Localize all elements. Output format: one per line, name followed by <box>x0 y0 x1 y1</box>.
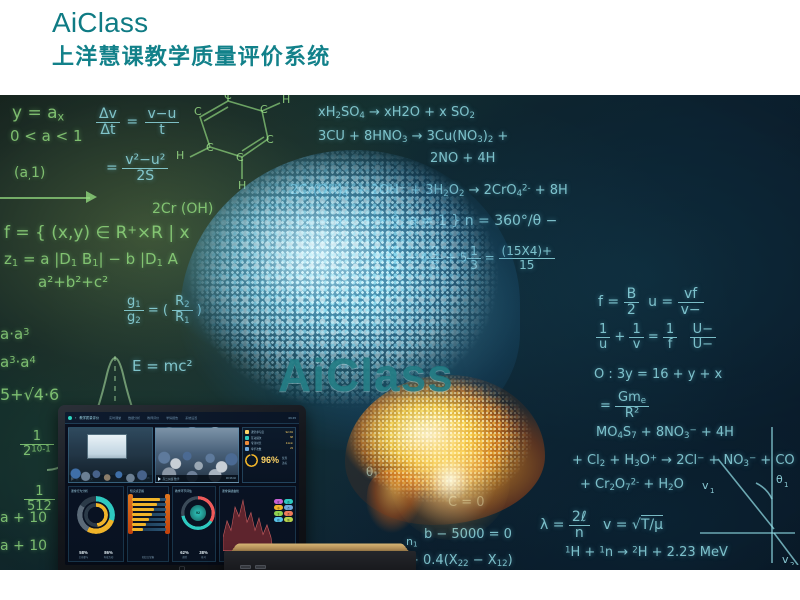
stat-caption: 知识点掌握 <box>142 555 154 559</box>
tag-chip[interactable]: 专 <box>274 511 283 516</box>
bar-row <box>132 528 166 531</box>
side-panel-row: 专注时长 41min <box>245 441 293 445</box>
tag-chip[interactable]: 中 <box>274 505 283 510</box>
stat-item: 38% 练习 <box>199 550 207 559</box>
indicator-light <box>240 565 251 569</box>
arrow-head <box>86 191 97 203</box>
video-tile-bar: 高一(3)班 语文 00:24:18 <box>69 475 152 482</box>
widget-stats: 62% 讲授 38% 练习 <box>175 550 213 559</box>
side-panel-row: 举手次数 23 <box>245 447 293 451</box>
video-tile[interactable]: 高一(3)班 语文 00:24:18 <box>68 427 153 483</box>
tag-chip[interactable]: 新 <box>284 517 293 522</box>
metric-icon <box>245 436 249 440</box>
side-panel-value: 68 <box>290 436 293 439</box>
svg-text:C: C <box>260 103 268 116</box>
svg-text:2: 2 <box>790 561 794 565</box>
score-ring <box>245 454 258 467</box>
tag-chip[interactable]: 活 <box>284 511 293 516</box>
side-panel-row: 课堂参与度 92.4% <box>245 430 293 434</box>
bar-row <box>132 513 166 516</box>
side-panel-value: 92.4% <box>286 431 293 434</box>
tag-chip[interactable]: 优 <box>274 499 283 504</box>
svg-text:H: H <box>282 95 290 106</box>
widget-stats: 58% 主动参与 86% 有效互动 <box>71 550 121 559</box>
stat-item: 86% 有效互动 <box>104 550 114 559</box>
score-sub-0: 优秀 <box>282 456 287 460</box>
widget-title: 课堂行为分析 <box>71 489 121 493</box>
brand-title: AiClass <box>52 9 148 37</box>
side-panel-value: 41min <box>286 442 293 445</box>
stat-label: 有效互动 <box>104 555 114 559</box>
tag-chip[interactable]: 良 <box>284 499 293 504</box>
set-top-box-body: AiClass <box>224 551 416 570</box>
video-timer: 00:24:18 <box>139 477 149 480</box>
tag-chip[interactable]: 合 <box>284 505 293 510</box>
dashboard-nav: 实时课堂 数据分析 教师评价 学情报告 系统设置 <box>109 416 197 420</box>
bar-row <box>132 518 166 521</box>
nav-item-3[interactable]: 学情报告 <box>166 416 178 420</box>
set-top-box-label: AiClass <box>294 568 346 571</box>
hero-image: y = ax 0 < a < 1 (a,1) f = { (x,y) ∈ R+×… <box>0 95 800 570</box>
page-header: AiClass 上洋慧课教学质量评价系统 <box>0 0 800 95</box>
nav-item-2[interactable]: 教师评价 <box>147 416 159 420</box>
metric-icon <box>245 441 249 445</box>
svg-text:θ: θ <box>776 473 783 486</box>
apple-logo-icon:  <box>178 566 186 570</box>
brand-subtitle: 上洋慧课教学质量评价系统 <box>52 46 330 68</box>
bar-chart <box>132 496 166 532</box>
nav-item-4[interactable]: 系统设置 <box>185 416 197 420</box>
dashboard-clock: 09:45 <box>288 416 296 420</box>
nav-item-1[interactable]: 数据分析 <box>128 416 140 420</box>
bar-row <box>132 498 166 501</box>
svg-text:v: v <box>782 553 789 565</box>
svg-text:1: 1 <box>710 487 714 495</box>
brain-overlay-label: AiClass <box>278 348 454 402</box>
stat-item: 62% 讲授 <box>180 550 188 559</box>
svg-text:H: H <box>222 95 230 96</box>
stat-item: 58% 主动参与 <box>79 550 89 559</box>
video-tile-bar: 高二(1)班 数学 00:36:02 <box>156 475 239 482</box>
side-panel-row: 互动频次 68 <box>245 436 293 440</box>
metric-icon <box>245 447 249 451</box>
stat-label: 讲授 <box>180 555 188 559</box>
metric-icon <box>245 430 249 434</box>
donut-chart-inner <box>84 503 108 527</box>
side-panel-label: 专注时长 <box>251 441 261 445</box>
play-icon[interactable] <box>158 477 161 481</box>
widget-title: 知识点掌握 <box>130 489 166 493</box>
widget-behavior-donut[interactable]: 课堂行为分析 58% 主动参与 86% 有效互动 <box>68 486 124 562</box>
stat-label: 主动参与 <box>79 555 89 559</box>
tag-list: 优 良 中 合 专 活 稳 新 <box>274 499 293 522</box>
score-value: 96% <box>261 456 279 465</box>
back-icon[interactable]: ‹ <box>75 415 76 420</box>
video-label: 高一(3)班 语文 <box>76 477 93 481</box>
widget-title: 教学环节评估 <box>175 489 213 493</box>
video-label: 高二(1)班 数学 <box>163 477 180 481</box>
widget-stats: 知识点掌握 <box>130 555 166 559</box>
svg-text:1: 1 <box>784 481 788 489</box>
side-panel-value: 23 <box>290 447 293 450</box>
stat-item: 知识点掌握 <box>142 555 154 559</box>
stat-label: 练习 <box>199 555 207 559</box>
vector-angle-diagram: θ1 v1 v2 <box>690 425 800 565</box>
dashboard-toolbar: ‹ 教学质量评价 实时课堂 数据分析 教师评价 学情报告 系统设置 09:45 <box>65 412 299 424</box>
video-timer: 00:36:02 <box>226 477 236 480</box>
home-icon[interactable] <box>68 416 72 420</box>
page-root: AiClass 上洋慧课教学质量评价系统 y = ax 0 < a < 1 (a… <box>0 0 800 600</box>
side-panel-label: 课堂参与度 <box>251 430 264 434</box>
arrow-glyph <box>0 197 90 199</box>
nav-item-0[interactable]: 实时课堂 <box>109 416 121 420</box>
indicator-light <box>255 565 266 569</box>
svg-text:v: v <box>702 479 709 492</box>
brain-glow <box>390 420 510 540</box>
widget-knowledge-bars[interactable]: 知识点掌握 <box>127 486 169 562</box>
tag-chip[interactable]: 稳 <box>274 517 283 522</box>
dashboard-title: 教学质量评价 <box>79 415 99 420</box>
svg-text:C: C <box>224 95 232 102</box>
bar-row <box>132 503 166 506</box>
bar-row <box>132 508 166 511</box>
score-sub-1: 达标 <box>282 461 287 465</box>
set-top-box-device: AiClass <box>224 541 416 570</box>
video-tile[interactable]: 高二(1)班 数学 00:36:02 <box>155 427 240 483</box>
play-icon[interactable] <box>71 477 74 481</box>
svg-text:C: C <box>194 105 202 118</box>
ring-center-value: 92 <box>190 505 206 521</box>
widget-title: 课堂情绪曲线 <box>222 489 293 493</box>
svg-text:C: C <box>266 133 274 146</box>
widget-stage-ring[interactable]: 教学环节评估 92 62% 讲授 38% 练习 <box>172 486 216 562</box>
video-grid: 高一(3)班 语文 00:24:18 高二(1)班 数学 00:36:02 <box>68 427 239 483</box>
bar-row <box>132 523 166 526</box>
side-panel-label: 举手次数 <box>251 447 261 451</box>
side-panel-label: 互动频次 <box>251 436 261 440</box>
dashboard-side-panel: 课堂参与度 92.4% 互动频次 68 专注时长 41min <box>242 427 296 483</box>
score-block: 96% 优秀 达标 <box>245 454 293 467</box>
